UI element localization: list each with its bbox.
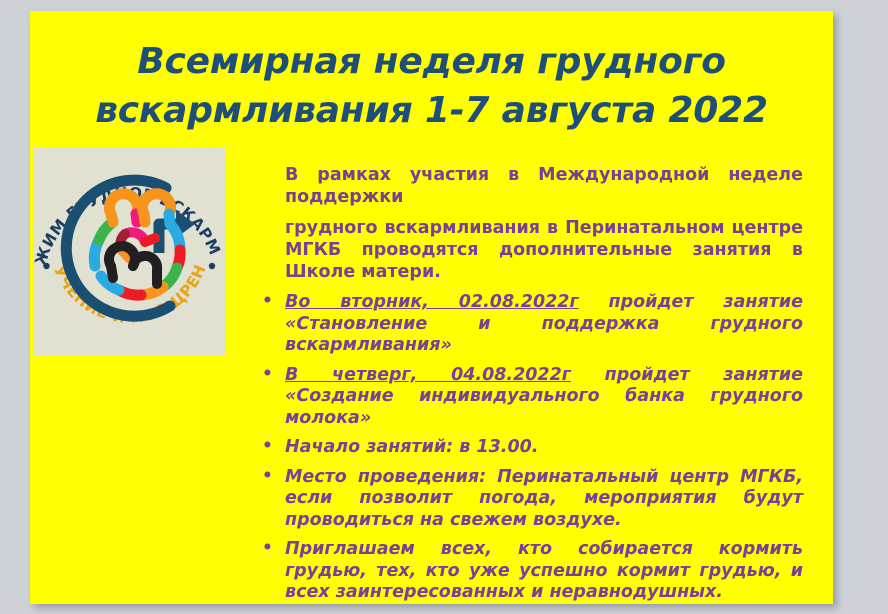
list-item: Во вторник, 02.08.2022г пройдет занятие … xyxy=(285,292,803,357)
intro-line-1: В рамках участия в Международной неделе xyxy=(285,164,803,186)
spacer xyxy=(256,208,803,217)
list-item-date: Во вторник, 02.08.2022г xyxy=(285,292,579,312)
list-item: Приглашаем всех, кто собирается кормить … xyxy=(285,539,803,604)
intro-paragraph-1: В рамках участия в Международной неделе … xyxy=(285,164,803,208)
intro-paragraph-2: грудного вскармливания в Перинатальном ц… xyxy=(285,217,803,283)
list-item-date: В четверг, 04.08.2022г xyxy=(285,365,571,385)
list-item-text: Приглашаем всех, кто собирается кормить … xyxy=(285,539,803,602)
intro-line-2: поддержки xyxy=(285,186,803,208)
page-title: Всемирная неделя грудного вскармливания … xyxy=(70,37,793,135)
page-title-line-2: вскармливания 1-7 августа 2022 xyxy=(70,86,793,135)
slide-body: В рамках участия в Международной неделе … xyxy=(256,164,803,604)
event-list: Во вторник, 02.08.2022г пройдет занятие … xyxy=(256,292,803,604)
spacer-2 xyxy=(256,283,803,292)
list-item-text: Начало занятий: в 13.00. xyxy=(285,437,538,457)
world-breastfeeding-week-logo: ПОДДЕРЖИМ ГРУДНОЕ ВСКАРМЛИВАНИЕ ОБУЧЕНИЕ… xyxy=(33,148,226,355)
screenshot-canvas: Всемирная неделя грудного вскармливания … xyxy=(0,0,888,614)
list-item: Начало занятий: в 13.00. xyxy=(285,437,803,459)
presentation-slide: Всемирная неделя грудного вскармливания … xyxy=(30,11,833,604)
list-item: Место проведения: Перинатальный центр МГ… xyxy=(285,467,803,532)
list-item-text: Место проведения: Перинатальный центр МГ… xyxy=(285,467,803,530)
list-item: В четверг, 04.08.2022г пройдет занятие «… xyxy=(285,365,803,430)
page-title-line-1: Всемирная неделя грудного xyxy=(70,37,793,86)
breastfeeding-logo-icon: ПОДДЕРЖИМ ГРУДНОЕ ВСКАРМЛИВАНИЕ ОБУЧЕНИЕ… xyxy=(33,148,226,355)
